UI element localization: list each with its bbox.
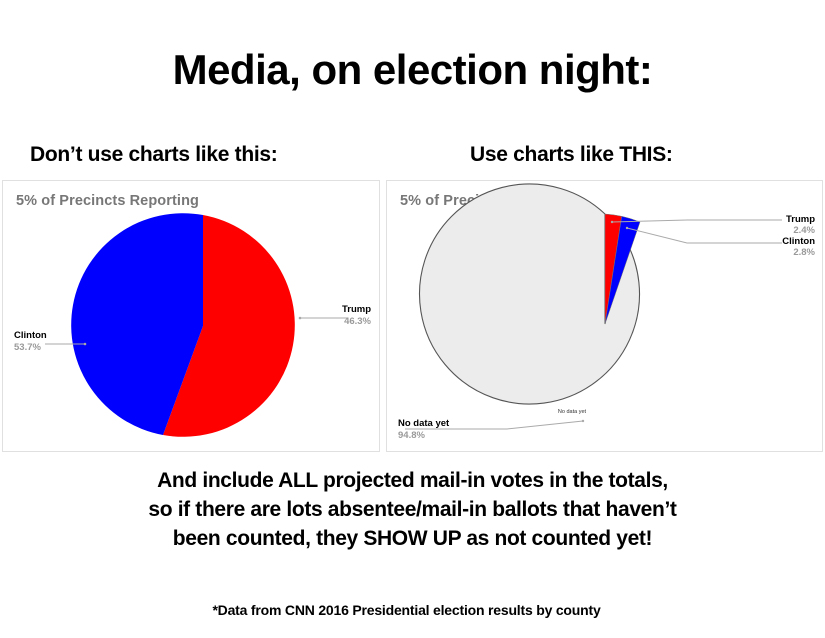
- pie-chart-good: Trump 2.4% Clinton 2.8% No data yet 94.8…: [387, 181, 822, 451]
- pie-label-clinton-value: 53.7%: [14, 342, 41, 353]
- leader-line-clinton: [627, 228, 782, 243]
- body-text-block: And include ALL projected mail-in votes …: [0, 466, 825, 553]
- pie-label-trump-value: 46.3%: [344, 316, 371, 327]
- subhead-bad-example: Don’t use charts like this:: [30, 143, 277, 167]
- chart-panel-bad: 5% of Precincts Reporting Trump 46.3% Cl…: [2, 180, 380, 452]
- body-line-3: been counted, they SHOW UP as not counte…: [0, 524, 825, 553]
- pie-label-trump-name: Trump: [786, 214, 815, 225]
- body-line-1: And include ALL projected mail-in votes …: [0, 466, 825, 495]
- leader-line-trump: [612, 220, 782, 222]
- pie-label-no-data-value: 94.8%: [398, 430, 425, 441]
- leader-dot-trump: [299, 317, 302, 320]
- pie-chart-bad: Trump 46.3% Clinton 53.7%: [3, 181, 379, 451]
- slide-root: Media, on election night: Don’t use char…: [0, 0, 825, 638]
- chart-panel-good: 5% of Precincts Reporting Trump 2.4% Cli…: [386, 180, 823, 452]
- pie-label-no-data-name: No data yet: [398, 418, 450, 429]
- pie-label-trump-name: Trump: [342, 304, 371, 315]
- body-line-2: so if there are lots absentee/mail-in ba…: [0, 495, 825, 524]
- leader-dot-clinton: [626, 227, 628, 229]
- footnote-source: *Data from CNN 2016 Presidential electio…: [0, 602, 825, 618]
- pie-label-clinton-name: Clinton: [14, 330, 47, 341]
- leader-dot-trump: [611, 221, 613, 223]
- pie-label-trump-value: 2.4%: [793, 225, 815, 236]
- leader-dot-clinton: [84, 343, 87, 346]
- pie-inner-label-no-data: No data yet: [558, 409, 587, 415]
- subhead-good-example: Use charts like THIS:: [470, 143, 673, 167]
- leader-dot-no-data: [582, 420, 584, 422]
- page-title: Media, on election night:: [0, 46, 825, 94]
- pie-label-clinton-value: 2.8%: [793, 247, 815, 258]
- pie-label-clinton-name: Clinton: [782, 236, 815, 247]
